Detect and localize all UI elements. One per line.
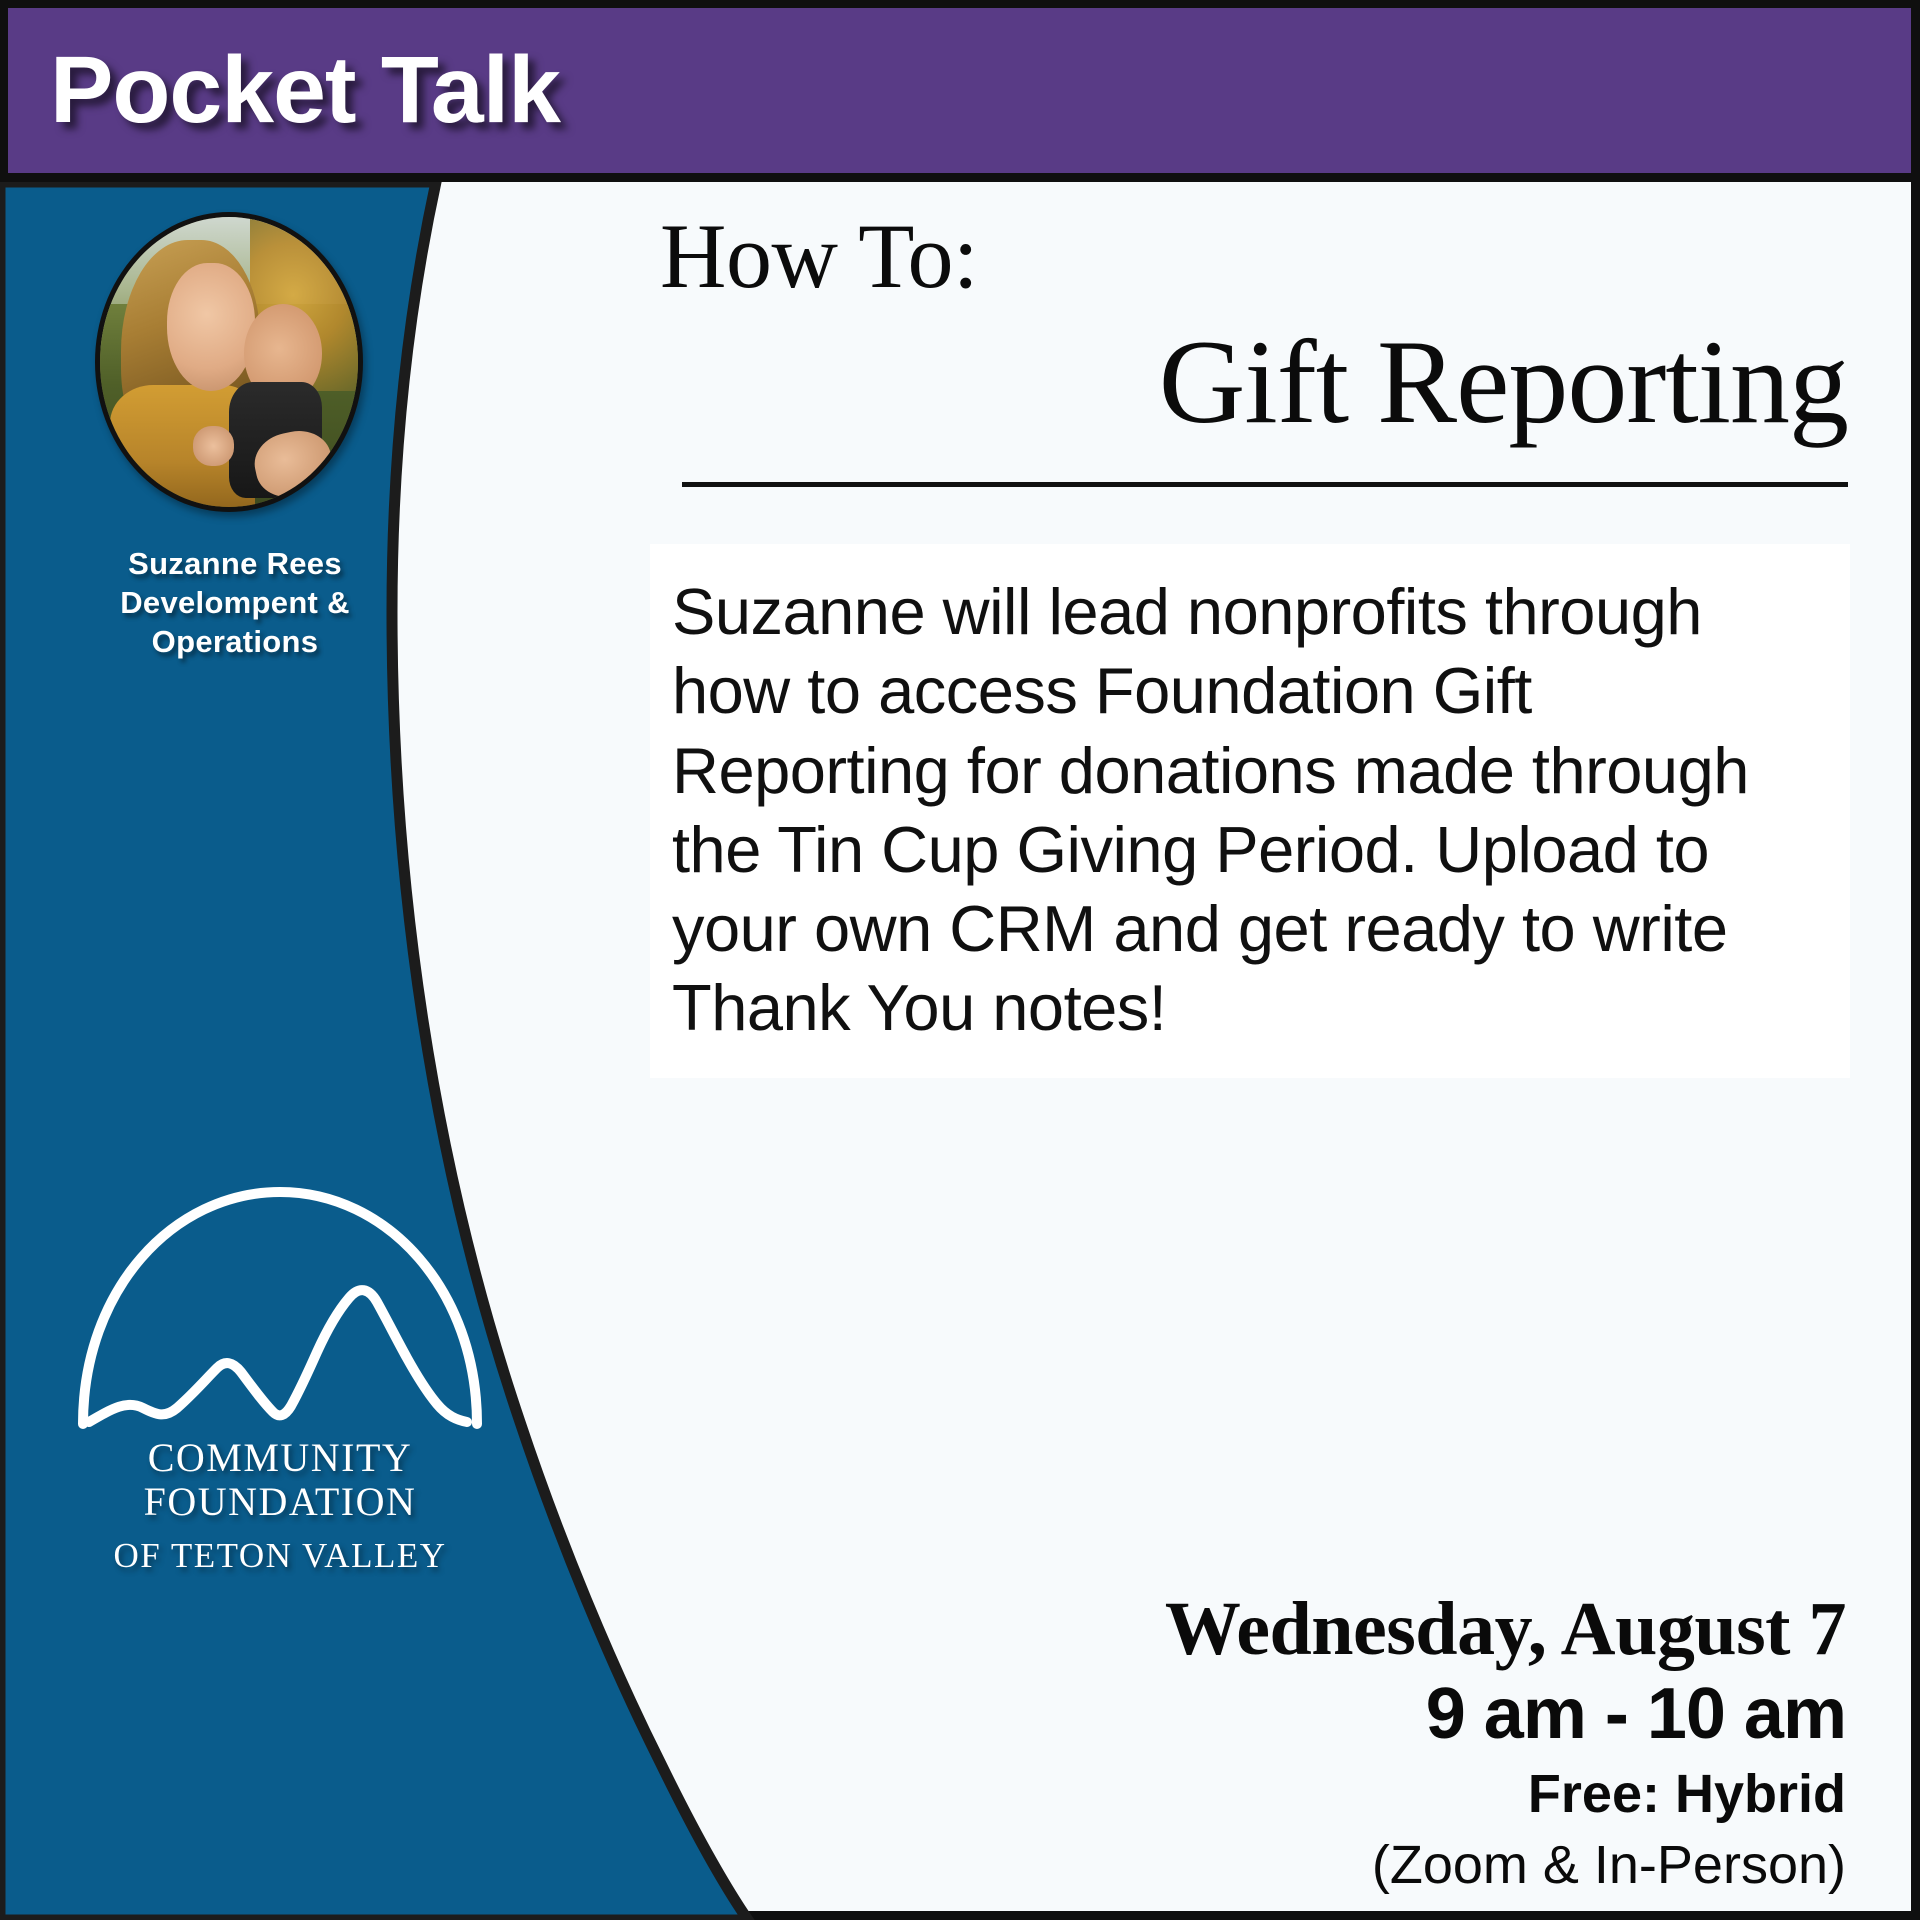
speaker-caption: Suzanne Rees Develompent & Operations <box>0 544 470 661</box>
poster-body: Suzanne Rees Develompent & Operations CO… <box>0 182 1920 1920</box>
mountain-arc-icon <box>65 1172 495 1432</box>
portrait-baby-hand <box>193 426 234 467</box>
avatar <box>95 212 363 512</box>
poster: Pocket Talk <box>0 0 1920 1920</box>
portrait-face <box>167 263 255 391</box>
left-column: Suzanne Rees Develompent & Operations CO… <box>0 182 620 1920</box>
header-banner: Pocket Talk <box>0 0 1920 182</box>
speaker-name: Suzanne Rees <box>0 544 470 583</box>
speaker-portrait <box>95 212 363 512</box>
event-details: Wednesday, August 7 9 am - 10 am Free: H… <box>746 1589 1846 1898</box>
logo-organization-name: COMMUNITY FOUNDATION <box>40 1436 520 1524</box>
title-divider <box>682 482 1848 487</box>
speaker-role-line-2: Operations <box>0 622 470 661</box>
event-time: 9 am - 10 am <box>746 1674 1846 1755</box>
event-date: Wednesday, August 7 <box>746 1589 1846 1670</box>
title-headline: Gift Reporting <box>1159 322 1848 442</box>
speaker-role-line-1: Develompent & <box>0 583 470 622</box>
title-eyebrow: How To: <box>660 210 978 302</box>
event-cost: Free: Hybrid <box>746 1762 1846 1827</box>
page-title: Pocket Talk <box>50 43 560 138</box>
logo-region-name: OF TETON VALLEY <box>40 1536 520 1576</box>
description-panel: Suzanne will lead nonprofits through how… <box>650 544 1850 1078</box>
right-column: How To: Gift Reporting Suzanne will lead… <box>660 182 1860 1920</box>
organization-logo: COMMUNITY FOUNDATION OF TETON VALLEY <box>40 1172 520 1576</box>
event-format: (Zoom & In-Person) <box>746 1833 1846 1898</box>
description-text: Suzanne will lead nonprofits through how… <box>672 572 1814 1048</box>
